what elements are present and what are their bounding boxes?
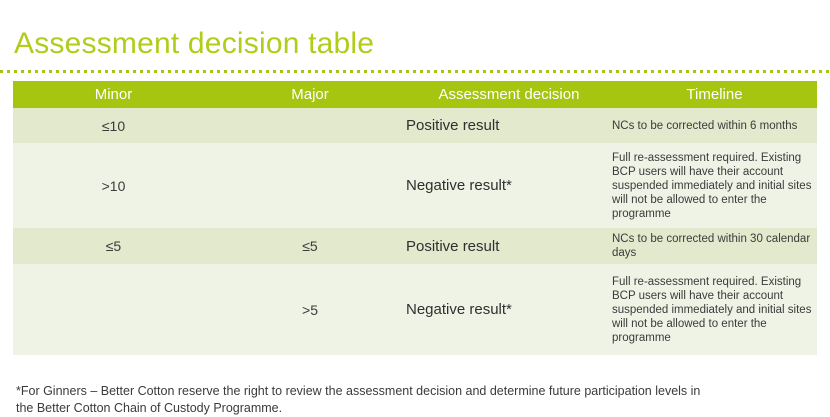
cell-assessment-decision: Positive result xyxy=(406,228,612,264)
table-header-row: Minor Major Assessment decision Timeline xyxy=(13,81,817,108)
cell-timeline: Full re-assessment required. Existing BC… xyxy=(612,143,817,228)
page-title: Assessment decision table xyxy=(14,24,374,64)
footnote-text: *For Ginners – Better Cotton reserve the… xyxy=(16,383,716,417)
assessment-decision-page: Assessment decision table Minor Major As… xyxy=(0,0,830,410)
dotted-divider xyxy=(0,70,830,73)
table-row: >10 Negative result* Full re-assessment … xyxy=(13,143,817,228)
cell-assessment-decision: Negative result* xyxy=(406,143,612,228)
table-row: ≤10 Positive result NCs to be corrected … xyxy=(13,108,817,143)
cell-minor: >10 xyxy=(13,143,214,228)
column-header-assessment-decision: Assessment decision xyxy=(406,81,612,108)
table-row: >5 Negative result* Full re-assessment r… xyxy=(13,264,817,355)
column-header-timeline: Timeline xyxy=(612,81,817,108)
cell-minor xyxy=(13,264,214,355)
cell-timeline: NCs to be corrected within 6 months xyxy=(612,108,817,143)
cell-major: ≤5 xyxy=(214,228,406,264)
cell-major: >5 xyxy=(214,264,406,355)
column-header-minor: Minor xyxy=(13,81,214,108)
cell-major xyxy=(214,143,406,228)
cell-assessment-decision: Negative result* xyxy=(406,264,612,355)
decision-table-container: Minor Major Assessment decision Timeline… xyxy=(13,81,817,355)
cell-timeline: NCs to be corrected within 30 calendar d… xyxy=(612,228,817,264)
table-row: ≤5 ≤5 Positive result NCs to be correcte… xyxy=(13,228,817,264)
table-header: Minor Major Assessment decision Timeline xyxy=(13,81,817,108)
column-header-major: Major xyxy=(214,81,406,108)
table-body: ≤10 Positive result NCs to be corrected … xyxy=(13,108,817,355)
cell-major xyxy=(214,108,406,143)
assessment-decision-table: Minor Major Assessment decision Timeline… xyxy=(13,81,817,355)
cell-assessment-decision: Positive result xyxy=(406,108,612,143)
cell-timeline: Full re-assessment required. Existing BC… xyxy=(612,264,817,355)
cell-minor: ≤5 xyxy=(13,228,214,264)
cell-minor: ≤10 xyxy=(13,108,214,143)
